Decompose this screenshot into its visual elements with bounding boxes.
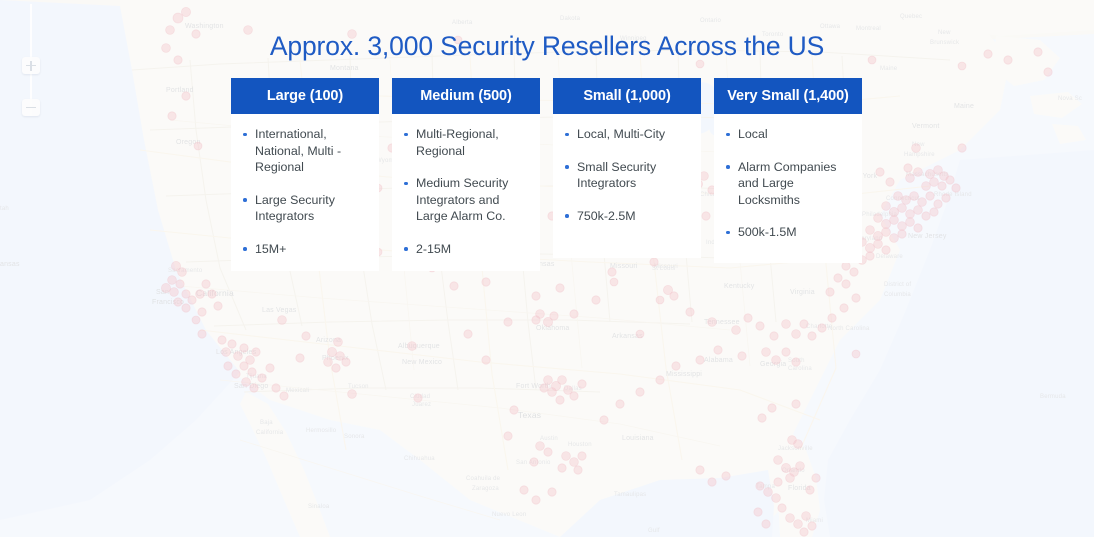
tier-bullet-list: Multi-Regional, RegionalMedium Security … xyxy=(400,126,530,257)
tier-card-header: Small (1,000) xyxy=(553,78,701,114)
tier-bullet-item: International, National, Multi - Regiona… xyxy=(239,126,369,176)
svg-text:Tucson: Tucson xyxy=(348,384,369,390)
svg-text:Sinaloa: Sinaloa xyxy=(308,504,330,510)
tier-card: Small (1,000)Local, Multi-CitySmall Secu… xyxy=(553,78,701,258)
svg-text:Dakota: Dakota xyxy=(560,16,581,22)
tier-card-body: Local, Multi-CitySmall Security Integrat… xyxy=(553,114,701,258)
svg-text:Las Vegas: Las Vegas xyxy=(262,307,297,314)
reseller-tier-cards: Large (100)International, National, Mult… xyxy=(231,78,864,271)
svg-text:Alabama: Alabama xyxy=(704,357,733,364)
tier-card: Very Small (1,400)LocalAlarm Companies a… xyxy=(714,78,862,263)
svg-text:Houston: Houston xyxy=(568,442,592,448)
svg-text:Maine: Maine xyxy=(880,66,898,72)
svg-text:Vermont: Vermont xyxy=(912,123,939,130)
svg-text:New Jersey: New Jersey xyxy=(908,233,947,240)
slide-canvas: Washington Portland Oregon Montana Idaho… xyxy=(0,0,1094,537)
svg-text:Portland: Portland xyxy=(166,87,194,94)
svg-text:Zaragoza: Zaragoza xyxy=(472,486,499,492)
svg-text:Washington: Washington xyxy=(185,23,224,30)
tier-bullet-item: 500k-1.5M xyxy=(722,224,852,241)
tier-card-body: Multi-Regional, RegionalMedium Security … xyxy=(392,114,540,271)
svg-text:Columbia: Columbia xyxy=(884,292,911,298)
tier-card-body: LocalAlarm Companies and Large Locksmith… xyxy=(714,114,862,263)
svg-text:Nuevo Leon: Nuevo Leon xyxy=(492,512,526,518)
svg-text:Rhode Island: Rhode Island xyxy=(934,192,972,198)
svg-text:New Mexico: New Mexico xyxy=(402,359,442,366)
svg-text:Virginia: Virginia xyxy=(790,289,815,296)
tier-bullet-item: Alarm Companies and Large Locksmiths xyxy=(722,159,852,209)
svg-text:Coahuila de: Coahuila de xyxy=(466,476,501,482)
svg-text:Maine: Maine xyxy=(954,103,974,110)
tier-card: Large (100)International, National, Mult… xyxy=(231,78,379,271)
minus-icon xyxy=(26,107,36,109)
svg-text:Baja: Baja xyxy=(260,420,273,426)
svg-text:Quebec: Quebec xyxy=(900,14,922,20)
zoom-out-button[interactable] xyxy=(22,99,40,116)
svg-text:Bermuda: Bermuda xyxy=(1040,394,1066,400)
svg-text:Montana: Montana xyxy=(330,65,359,72)
svg-text:Louisiana: Louisiana xyxy=(622,435,654,442)
tier-bullet-item: 15M+ xyxy=(239,241,369,258)
tier-bullet-item: Small Security Integrators xyxy=(561,159,691,192)
tier-bullet-item: 750k-2.5M xyxy=(561,208,691,225)
svg-text:Texas: Texas xyxy=(518,410,541,420)
svg-text:Ottawa: Ottawa xyxy=(820,24,841,30)
tier-bullet-item: Large Security Integrators xyxy=(239,192,369,225)
tier-card: Medium (500)Multi-Regional, RegionalMedi… xyxy=(392,78,540,271)
svg-text:Delaware: Delaware xyxy=(876,254,903,260)
svg-text:Tamaulipas: Tamaulipas xyxy=(614,492,646,498)
tier-bullet-item: Local xyxy=(722,126,852,143)
tier-card-header: Medium (500) xyxy=(392,78,540,114)
svg-text:Chihuahua: Chihuahua xyxy=(404,456,435,462)
tier-bullet-list: Local, Multi-CitySmall Security Integrat… xyxy=(561,126,691,224)
tier-bullet-item: Multi-Regional, Regional xyxy=(400,126,530,159)
tier-card-header: Large (100) xyxy=(231,78,379,114)
svg-text:Oklahoma: Oklahoma xyxy=(536,325,570,332)
svg-text:Ontario: Ontario xyxy=(700,18,722,24)
tier-bullet-item: Medium Security Integrators and Large Al… xyxy=(400,175,530,225)
svg-text:Albuquerque: Albuquerque xyxy=(398,343,440,350)
page-title: Approx. 3,000 Security Resellers Across … xyxy=(0,31,1094,62)
svg-text:Gulf: Gulf xyxy=(648,528,660,534)
svg-text:Carolina: Carolina xyxy=(788,366,812,372)
tier-bullet-item: Local, Multi-City xyxy=(561,126,691,143)
svg-text:North Carolina: North Carolina xyxy=(828,326,870,332)
svg-text:Mississippi: Mississippi xyxy=(666,371,702,378)
svg-text:Nova Sc: Nova Sc xyxy=(1058,96,1082,102)
tier-card-header: Very Small (1,400) xyxy=(714,78,862,114)
svg-text:California: California xyxy=(256,430,284,436)
tier-bullet-list: International, National, Multi - Regiona… xyxy=(239,126,369,257)
svg-text:District of: District of xyxy=(884,282,911,288)
svg-text:Alberta: Alberta xyxy=(452,20,473,26)
tier-bullet-item: 2-15M xyxy=(400,241,530,258)
svg-text:Hermosillo: Hermosillo xyxy=(306,428,337,434)
svg-text:Mexicali: Mexicali xyxy=(286,388,309,394)
svg-text:Sonora: Sonora xyxy=(344,434,365,440)
svg-text:Hampshire: Hampshire xyxy=(904,152,935,158)
tier-card-body: International, National, Multi - Regiona… xyxy=(231,114,379,271)
svg-text:Juarez: Juarez xyxy=(412,402,431,408)
plus-icon-vertical xyxy=(30,61,32,71)
svg-text:Kentucky: Kentucky xyxy=(724,283,755,290)
svg-text:Austin: Austin xyxy=(540,436,558,442)
tier-bullet-list: LocalAlarm Companies and Large Locksmith… xyxy=(722,126,852,241)
